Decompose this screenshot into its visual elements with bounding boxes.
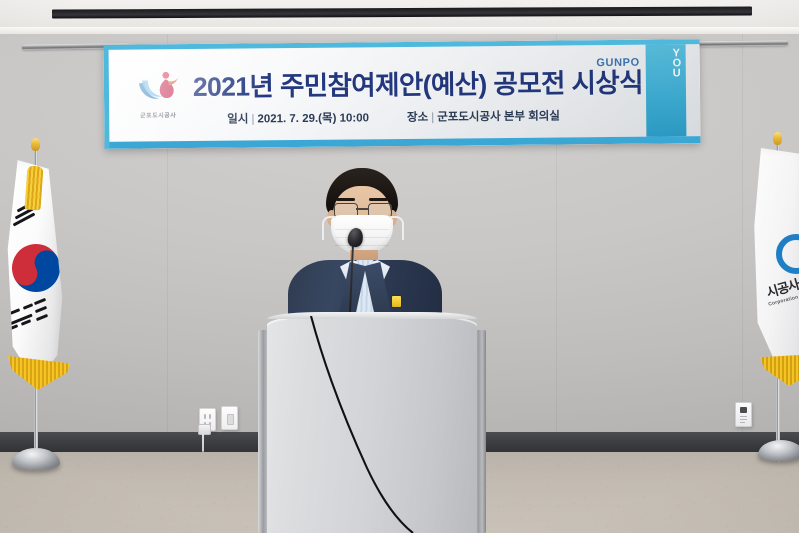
- corporate-flag-cloth: 시공사 Corporation: [752, 148, 799, 378]
- brand-slogan: YOU: [673, 48, 682, 78]
- taeguk-symbol: [4, 236, 69, 301]
- mask-strap-right: [390, 216, 404, 240]
- separator-1: |: [248, 113, 257, 125]
- photo-scene: 군포도시공사 2021년 주민참여제안(예산) 공모전 시상식 일시|2021.…: [0, 0, 799, 533]
- banner-title: 2021년 주민참여제안(예산) 공모전 시상식: [193, 60, 663, 104]
- glasses-bridge: [356, 208, 368, 210]
- wall-switch[interactable]: [221, 406, 238, 430]
- trigram-bar: [8, 324, 18, 331]
- flag-base-right: [758, 440, 799, 461]
- banner-rod-right: [688, 40, 788, 46]
- trigram-bar: [10, 308, 20, 315]
- banner-subtitle: 일시|2021. 7. 29.(목) 10:00장소|군포도시공사 본부 회의실: [227, 106, 677, 126]
- korean-national-flag: [4, 160, 68, 410]
- trigram-bar: [23, 303, 33, 310]
- eyebrow-right: [369, 198, 388, 201]
- ceiling-lip: [0, 27, 799, 34]
- event-banner: 군포도시공사 2021년 주민참여제안(예산) 공모전 시상식 일시|2021.…: [104, 39, 701, 149]
- corporate-emblem-icon: [776, 234, 799, 274]
- plug-cord: [202, 432, 204, 452]
- ceiling-track: [52, 6, 752, 18]
- gunpo-logo-icon: [135, 69, 181, 103]
- date-label: 일시: [227, 113, 248, 125]
- flagpole-finial-left: [31, 138, 40, 151]
- mask-strap-left: [322, 216, 336, 240]
- banner-left-edge: [104, 45, 110, 149]
- place-label: 장소: [407, 112, 428, 124]
- wall-seam: [742, 34, 743, 434]
- logo-name: 군포도시공사: [127, 110, 189, 120]
- podium-top-edge: [267, 312, 477, 319]
- wall-thermostat[interactable]: [735, 402, 752, 427]
- eyebrow-left: [336, 198, 355, 201]
- podium-face: [267, 312, 477, 533]
- flag-fringe-left: [8, 356, 70, 390]
- corporate-flag: 시공사 Corporation: [752, 148, 799, 410]
- podium: [258, 312, 486, 533]
- separator-2: |: [428, 112, 437, 124]
- trigram-bar: [34, 298, 46, 305]
- brand-word: GUNPO: [596, 57, 639, 69]
- trigram-bar: [36, 314, 48, 321]
- trigram-bar: [35, 306, 47, 313]
- gunpo-brand: GUNPO: [596, 53, 640, 71]
- flag-tassel-left: [24, 165, 43, 210]
- gunpo-logo: 군포도시공사: [127, 69, 189, 120]
- lapel-badge: [392, 296, 401, 307]
- plug-body: [198, 424, 211, 435]
- flagpole-finial-right: [773, 132, 782, 145]
- date-value: 2021. 7. 29.(목) 10:00: [257, 112, 369, 125]
- banner-face: 군포도시공사 2021년 주민참여제안(예산) 공모전 시상식 일시|2021.…: [109, 44, 701, 142]
- place-value: 군포도시공사 본부 회의실: [437, 110, 560, 123]
